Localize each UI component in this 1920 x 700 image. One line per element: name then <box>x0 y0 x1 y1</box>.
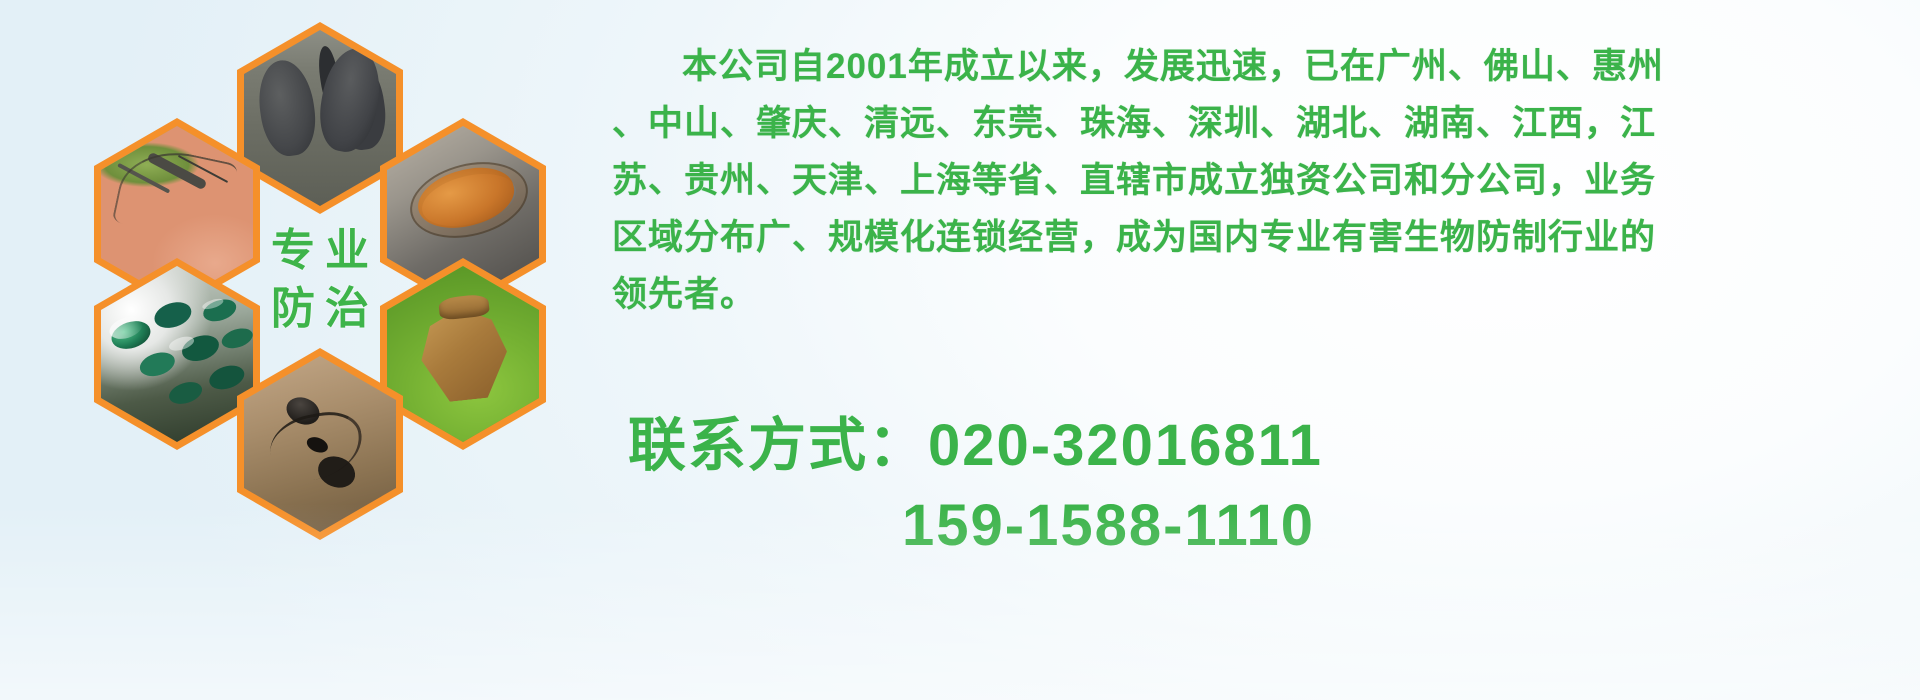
hex-cell-flies <box>94 258 260 450</box>
flies-photo <box>101 266 253 442</box>
intro-line-3: 苏、贵州、天津、上海等省、直辖市成立独资公司和分公司，业务 <box>612 152 1900 209</box>
hex-cell-ant <box>237 348 403 540</box>
honeycomb-logo: 专业 防治 <box>90 8 590 568</box>
ant-photo <box>244 356 396 532</box>
contact-block: 联系方式：020-32016811 159-1588-1110 <box>628 406 1918 566</box>
logo-slogan-line1: 专业 <box>261 229 379 273</box>
contact-phone-primary[interactable]: 联系方式：020-32016811 <box>628 406 1918 486</box>
company-intro: 本公司自2001年成立以来，发展迅速，已在广州、佛山、惠州 、中山、肇庆、清远、… <box>612 38 1900 323</box>
intro-line-2: 、中山、肇庆、清远、东莞、珠海、深圳、湖北、湖南、江西，江 <box>612 95 1900 152</box>
intro-line-1: 本公司自2001年成立以来，发展迅速，已在广州、佛山、惠州 <box>612 38 1900 95</box>
stinkbug-photo <box>387 266 539 442</box>
intro-line-4: 区域分布广、规模化连锁经营，成为国内专业有害生物防制行业的 <box>612 209 1900 266</box>
hex-photo-frame <box>244 30 396 206</box>
logo-slogan: 专业 防治 <box>237 184 403 376</box>
hex-photo-frame <box>387 266 539 442</box>
hex-cell-stinkbug <box>380 258 546 450</box>
logo-slogan-line2: 防治 <box>261 287 379 331</box>
rats-photo <box>244 30 396 206</box>
promotional-banner: 专业 防治 本公司自2001年成立以来，发展迅速，已在广州、佛山、惠州 、中山、… <box>0 0 1920 700</box>
intro-line-5: 领先者。 <box>612 266 1900 323</box>
hex-photo-frame <box>101 266 253 442</box>
hex-photo-frame <box>244 356 396 532</box>
contact-phone-mobile[interactable]: 159-1588-1110 <box>628 486 1918 566</box>
